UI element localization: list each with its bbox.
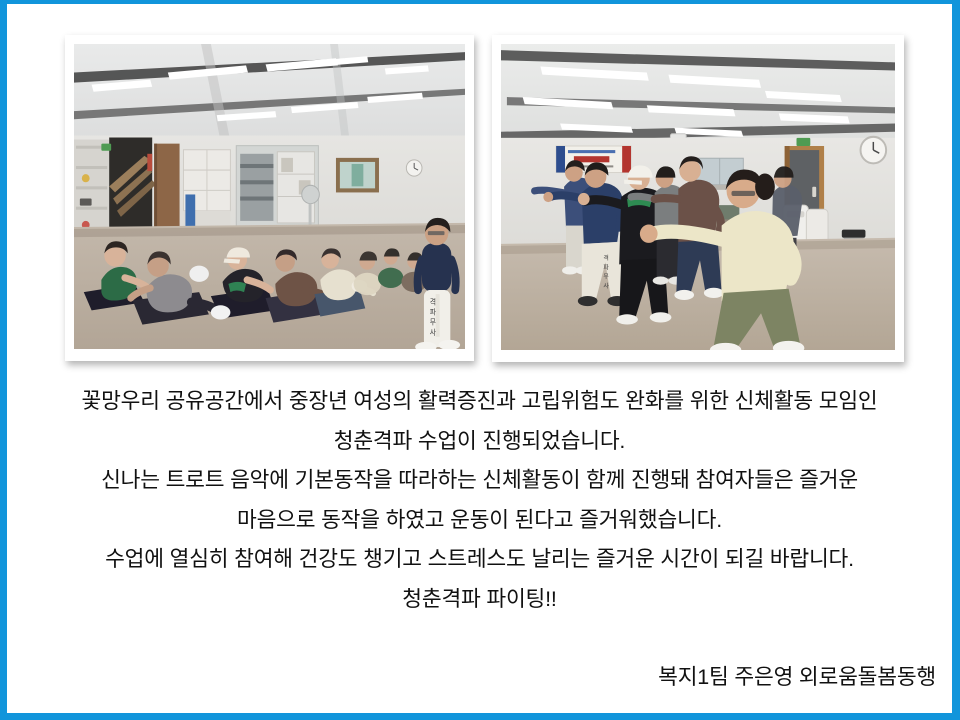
body-text: 꽃망우리 공유공간에서 중장년 여성의 활력증진과 고립위험도 완화를 위한 신… (7, 382, 952, 619)
slide-frame: 격파 무사 (0, 0, 960, 720)
svg-text:무: 무 (430, 318, 437, 326)
body-line-4: 마음으로 동작을 하였고 운동이 된다고 즐거워했습니다. (7, 501, 952, 541)
punching-practice-photo: 격파 무사 (501, 44, 895, 350)
body-line-1: 꽃망우리 공유공간에서 중장년 여성의 활력증진과 고립위험도 완화를 위한 신… (7, 382, 952, 422)
stretching-session-photo: 격파 무사 (74, 44, 465, 349)
svg-text:격: 격 (603, 255, 608, 262)
svg-text:사: 사 (603, 282, 609, 290)
signature-line: 복지1팀 주은영 외로움돌봄동행 (658, 662, 936, 692)
svg-text:파: 파 (603, 263, 609, 271)
body-line-5: 수업에 열심히 참여해 건강도 챙기고 스트레스도 날리는 즐거운 시간이 되길… (7, 540, 952, 580)
svg-text:무: 무 (603, 274, 609, 281)
body-line-6: 청춘격파 파이팅!! (7, 580, 952, 620)
svg-text:사: 사 (430, 328, 437, 337)
svg-text:격: 격 (430, 298, 436, 306)
photo-frame-punching[interactable]: 격파 무사 (492, 35, 904, 362)
body-line-3: 신나는 트로트 음악에 기본동작을 따라하는 신체활동이 함께 진행돼 참여자들… (7, 461, 952, 501)
photo-frame-stretching[interactable]: 격파 무사 (65, 35, 474, 361)
slide-canvas: 격파 무사 (7, 4, 952, 713)
svg-text:파: 파 (430, 307, 437, 316)
body-line-2: 청춘격파 수업이 진행되었습니다. (7, 422, 952, 462)
photo-strip: 격파 무사 (7, 4, 952, 364)
